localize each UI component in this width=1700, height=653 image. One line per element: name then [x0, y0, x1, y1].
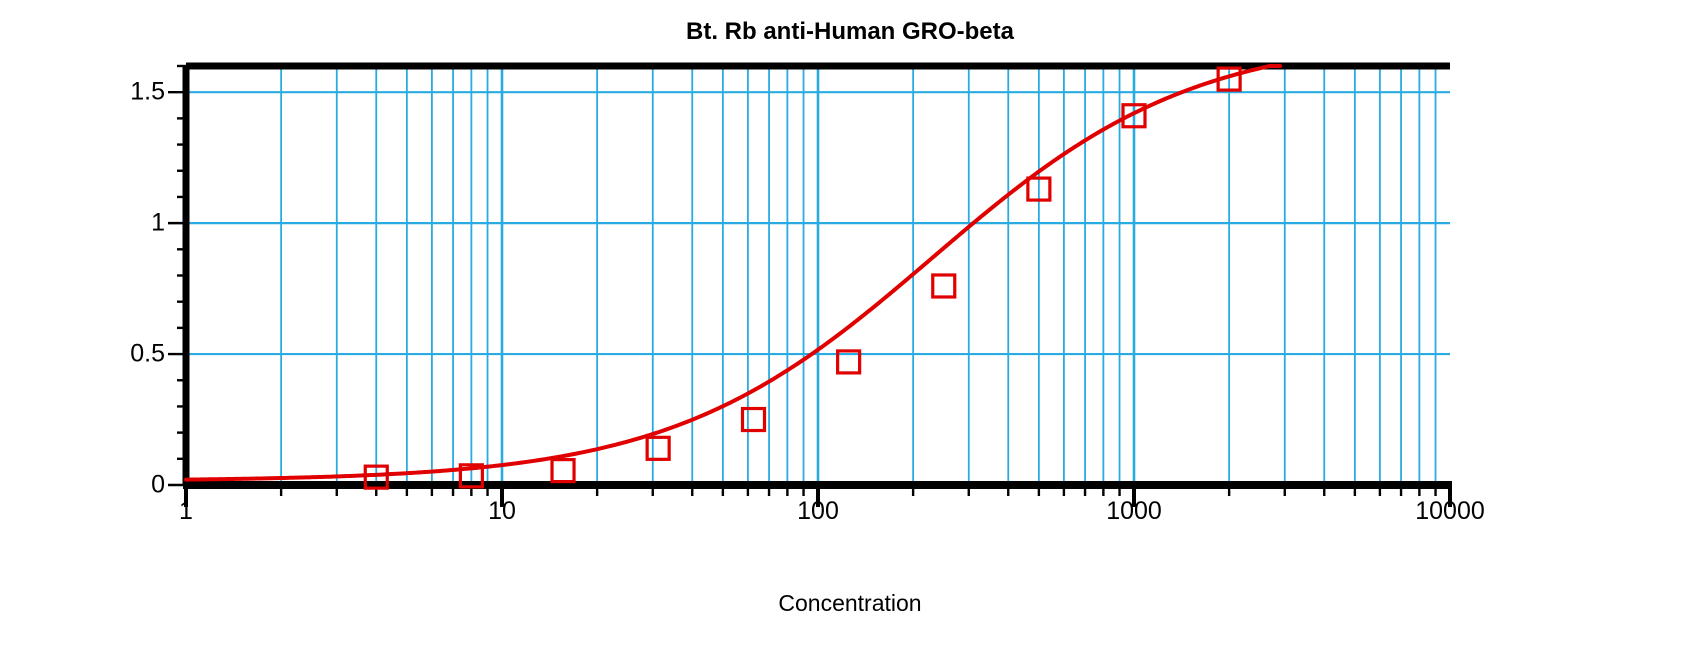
plot-area: [0, 0, 1700, 653]
x-axis-label: Concentration: [0, 590, 1700, 617]
x-tick-label: 1: [179, 497, 193, 526]
y-tick-label: 0.5: [60, 340, 165, 369]
x-tick-label: 100: [797, 497, 839, 526]
data-point: [933, 275, 955, 297]
y-tick-label: 1.5: [60, 78, 165, 107]
y-tick-label: 1: [60, 209, 165, 238]
x-tick-label: 1000: [1106, 497, 1162, 526]
data-point: [552, 460, 574, 482]
data-point: [647, 437, 669, 459]
data-point: [742, 409, 764, 431]
y-tick-label: 0: [60, 471, 165, 500]
x-grid-minor: [281, 66, 1435, 485]
x-tick-label: 10000: [1415, 497, 1485, 526]
fit-curve: [186, 66, 1280, 480]
axis-ticks: [168, 66, 1450, 507]
x-tick-label: 10: [488, 497, 516, 526]
chart-figure: Bt. Rb anti-Human GRO-beta MeanValue Con…: [0, 0, 1700, 653]
